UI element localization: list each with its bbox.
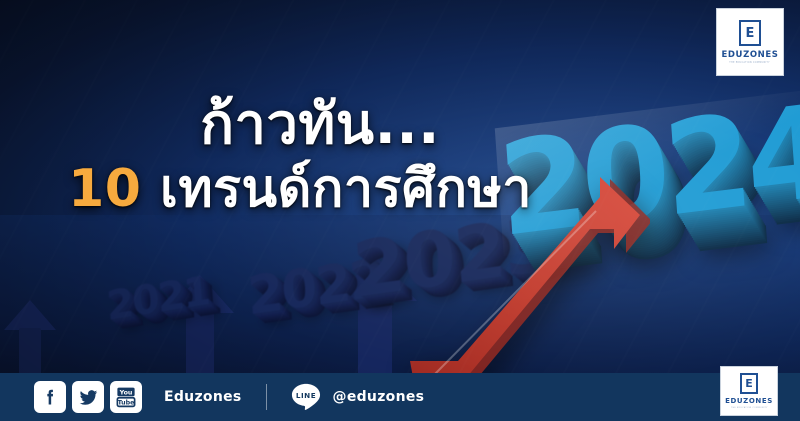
svg-text:You: You [119,389,133,396]
logo-letter-e: E [739,20,761,46]
footer-bar: You Tube Eduzones LINE @eduzones [0,373,800,421]
headline-number: 10 [68,159,141,219]
youtube-icon[interactable]: You Tube [110,381,142,413]
footer-divider [266,384,267,410]
logo-wordmark: EDUZONES [725,397,773,405]
headline-line-2: 10 เทรนด์การศึกษา [0,161,600,218]
headline-line-1: ก้าวทัน... [0,96,600,155]
promo-banner: 2021 2022 2023 2024 [0,0,800,421]
eduzones-logo-bottom[interactable]: E EDUZONES THE EDUCATION COMMUNITY [720,366,778,416]
headline-line-2-text: เทรนด์การศึกษา [141,159,531,219]
social-icon-group: You Tube [34,381,142,413]
line-handle: @eduzones [333,389,425,405]
svg-text:Tube: Tube [118,400,135,407]
logo-tagline: THE EDUCATION COMMUNITY [730,61,771,64]
eduzones-logo-top[interactable]: E EDUZONES THE EDUCATION COMMUNITY [716,8,784,76]
logo-letter-e: E [740,373,758,394]
logo-tagline: THE EDUCATION COMMUNITY [731,406,768,409]
twitter-icon[interactable] [72,381,104,413]
line-icon[interactable]: LINE [291,383,321,412]
line-contact-group[interactable]: LINE @eduzones [291,383,425,412]
footer-brand-name: Eduzones [164,389,242,405]
headline-block: ก้าวทัน... 10 เทรนด์การศึกษา [0,96,600,218]
svg-text:LINE: LINE [295,390,315,399]
logo-wordmark: EDUZONES [722,50,779,60]
facebook-icon[interactable] [34,381,66,413]
